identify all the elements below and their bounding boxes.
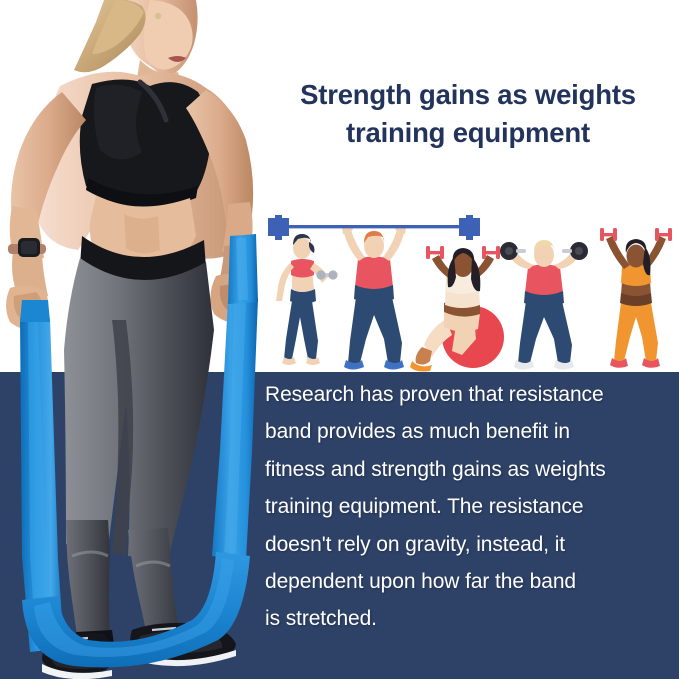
exercise-illustration-strip: [260, 215, 679, 372]
headline-line-2: training equipment: [262, 114, 674, 152]
product-photo: [0, 0, 262, 679]
body-line: fitness and strength gains as weights: [265, 451, 675, 488]
headline-line-1: Strength gains as weights: [262, 76, 674, 114]
body-line: doesn't rely on gravity, instead, it: [265, 526, 675, 563]
page-headline: Strength gains as weights training equip…: [262, 76, 674, 152]
body-line: Research has proven that resistance: [265, 376, 675, 413]
body-line: is stretched.: [265, 600, 675, 637]
body-line: training equipment. The resistance: [265, 488, 675, 525]
body-line: band provides as much benefit in: [265, 413, 675, 450]
body-paragraph: Research has proven that resistance band…: [265, 376, 675, 638]
banner-stage: Strength gains as weights training equip…: [0, 0, 679, 679]
body-line: dependent upon how far the band: [265, 563, 675, 600]
